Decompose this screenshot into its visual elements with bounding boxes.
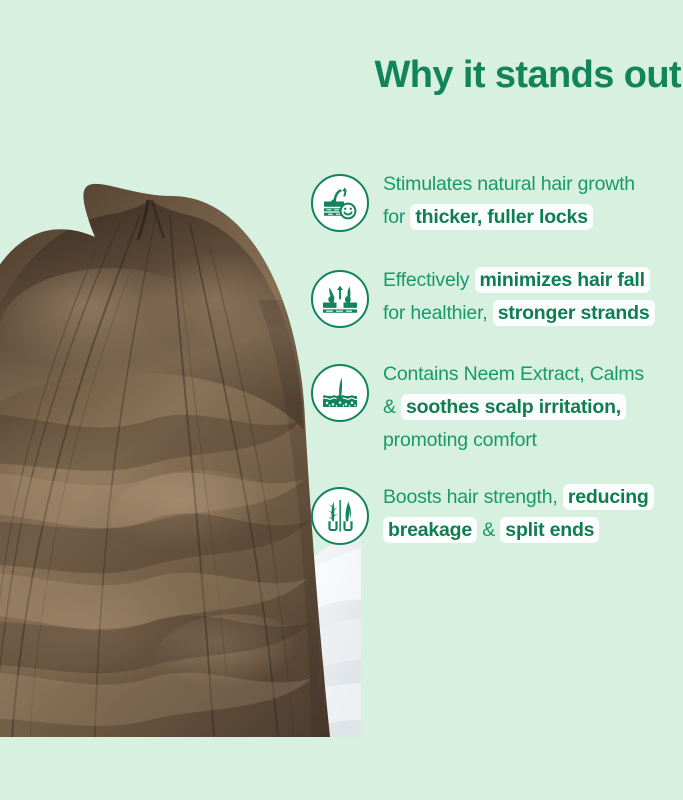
feature-line-1-segment-1: Effectively bbox=[383, 269, 475, 291]
feature-line-2-segment-1: for healthier, bbox=[383, 302, 493, 324]
feature-list: Stimulates natural hair growth for thick… bbox=[311, 168, 683, 547]
hair-strength-split-ends-icon bbox=[311, 487, 369, 545]
promo-poster: Why it stands out bbox=[0, 0, 683, 800]
hair-follicle-growth-smiley-icon bbox=[311, 174, 369, 232]
feature-line-2-segment-1: & bbox=[383, 396, 401, 418]
feature-text: Effectively minimizes hair fall for heal… bbox=[369, 264, 683, 330]
feature-line-2-segment-2: & bbox=[477, 519, 500, 541]
hair-fall-reduction-icon bbox=[311, 270, 369, 328]
feature-line-1-highlight: minimizes hair fall bbox=[475, 267, 650, 293]
feature-text: Stimulates natural hair growth for thick… bbox=[369, 168, 683, 234]
feature-line-1-segment-1: Boosts hair strength, bbox=[383, 486, 563, 508]
feature-item-neem-extract: Contains Neem Extract, Calms & soothes s… bbox=[311, 358, 683, 457]
feature-line-1-highlight: reducing bbox=[563, 484, 654, 510]
feature-line-2-segment-1: for bbox=[383, 206, 410, 228]
feature-line-2-highlight: thicker, fuller locks bbox=[410, 204, 592, 230]
feature-line-2-highlight-1: breakage bbox=[383, 517, 477, 543]
feature-line-2-highlight-2: split ends bbox=[500, 517, 599, 543]
feature-line-2-highlight: soothes scalp irritation, bbox=[401, 394, 626, 420]
feature-text: Boosts hair strength, reducing breakage … bbox=[369, 481, 683, 547]
feature-line-3-segment-1: promoting comfort bbox=[383, 429, 537, 451]
feature-text: Contains Neem Extract, Calms & soothes s… bbox=[369, 358, 683, 457]
feature-line-1-segment-1: Contains Neem Extract, Calms bbox=[383, 363, 644, 385]
feature-item-hair-growth: Stimulates natural hair growth for thick… bbox=[311, 168, 683, 234]
feature-line-2-highlight: stronger strands bbox=[493, 300, 655, 326]
feature-item-hair-strength: Boosts hair strength, reducing breakage … bbox=[311, 481, 683, 547]
page-title: Why it stands out bbox=[311, 52, 683, 98]
feature-item-hair-fall: Effectively minimizes hair fall for heal… bbox=[311, 264, 683, 330]
feature-line-1-segment-1: Stimulates natural hair growth bbox=[383, 173, 635, 195]
scalp-soothing-follicle-icon bbox=[311, 364, 369, 422]
hair-model-photo bbox=[0, 0, 361, 737]
